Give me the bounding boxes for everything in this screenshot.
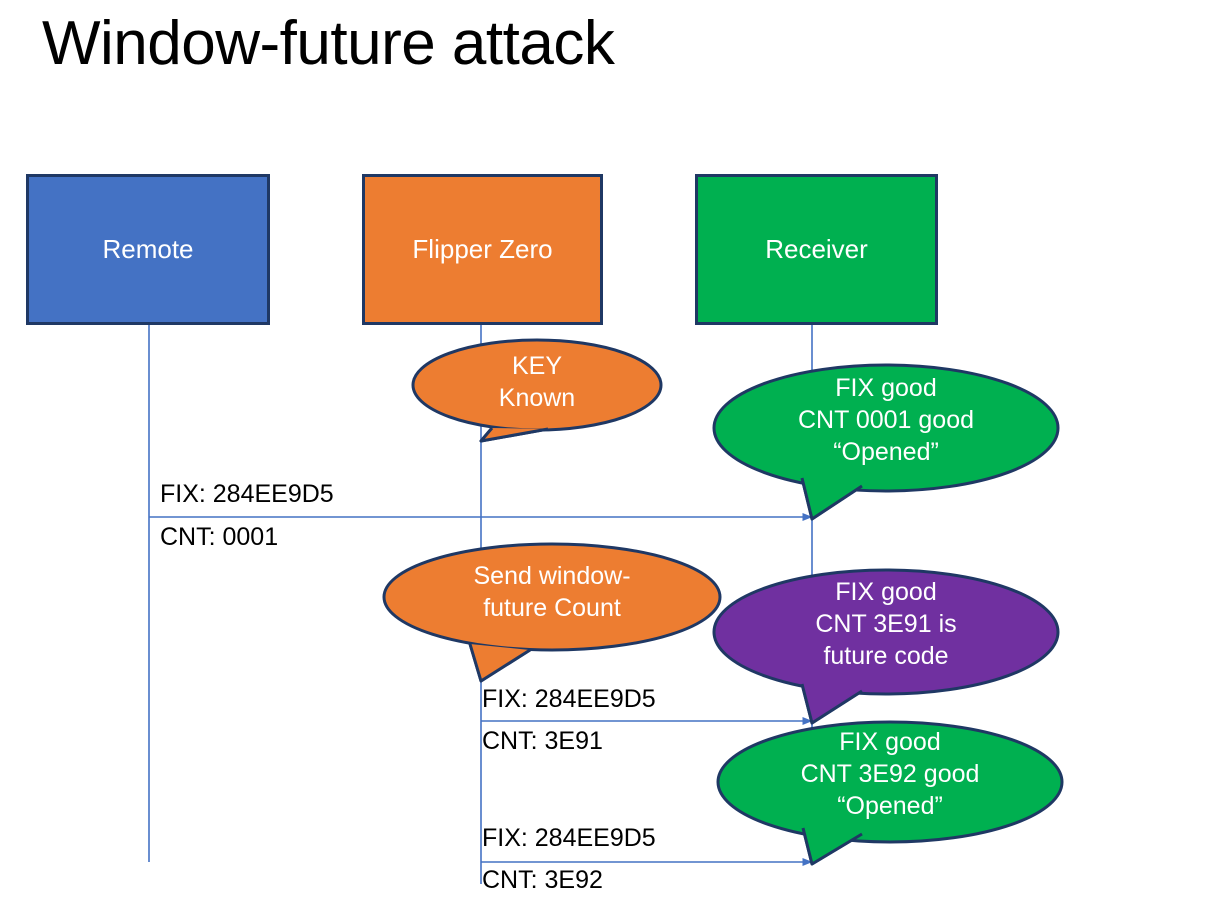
actor-label-flipper-zero: Flipper Zero (412, 235, 552, 264)
message-1-cnt-label: CNT: 0001 (160, 524, 278, 552)
actor-box-remote[interactable]: Remote (26, 174, 270, 325)
callout-fix-good-0001 (714, 365, 1058, 519)
actor-box-receiver[interactable]: Receiver (695, 174, 938, 325)
message-1-fix-label: FIX: 284EE9D5 (160, 481, 334, 509)
message-3-fix-label: FIX: 284EE9D5 (482, 825, 656, 853)
callout-fix-good-3e92 (718, 722, 1062, 864)
callout-send-window-future (384, 544, 720, 681)
callout-key-known (413, 340, 661, 441)
actor-label-receiver: Receiver (765, 235, 868, 264)
actor-box-flipper-zero[interactable]: Flipper Zero (362, 174, 603, 325)
message-2-fix-label: FIX: 284EE9D5 (482, 686, 656, 714)
callout-future-code (714, 570, 1058, 723)
message-2-cnt-label: CNT: 3E91 (482, 728, 603, 756)
actor-label-remote: Remote (102, 235, 193, 264)
slide-canvas: Window-future attack (0, 0, 1216, 898)
message-3-cnt-label: CNT: 3E92 (482, 867, 603, 895)
sequence-diagram (0, 0, 1216, 898)
